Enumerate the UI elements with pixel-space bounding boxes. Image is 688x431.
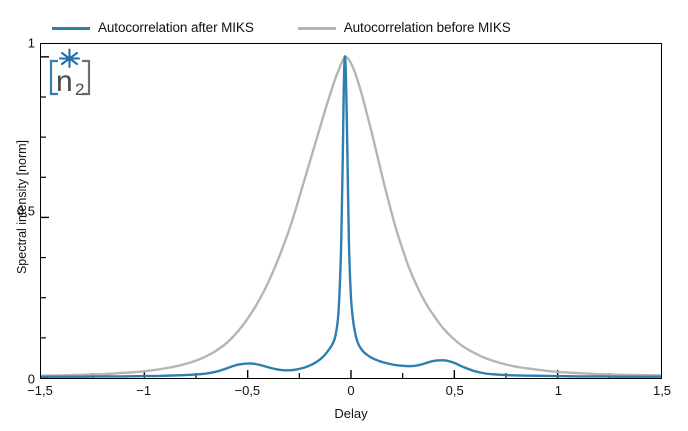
x-tick-label-2: −0,5 (234, 383, 260, 398)
series-line-before-miks (41, 57, 661, 376)
logo-letter-n: n (56, 65, 73, 98)
x-axis-title: Delay (40, 406, 662, 421)
x-tick-label-6: 1,5 (653, 383, 671, 398)
series-line-after-miks (41, 56, 661, 376)
x-tick-label-3: 0 (347, 383, 354, 398)
legend-item-before-miks[interactable]: Autocorrelation before MIKS (298, 21, 511, 35)
legend-label-after-miks: Autocorrelation after MIKS (98, 21, 254, 35)
x-axis-tick-labels: −1,5−1−0,500,511,5 (40, 383, 662, 403)
legend-swatch-before-miks (298, 27, 336, 30)
x-tick-label-4: 0,5 (446, 383, 464, 398)
y-axis-title: Spectral intensity [norm] (15, 117, 29, 297)
n2-logo-svg: n 2 (46, 48, 94, 98)
x-tick-label-0: −1,5 (27, 383, 53, 398)
n2-logo: n 2 (46, 48, 94, 98)
x-tick-label-5: 1 (555, 383, 562, 398)
legend-label-before-miks: Autocorrelation before MIKS (344, 21, 511, 35)
legend-item-after-miks[interactable]: Autocorrelation after MIKS (52, 21, 254, 35)
plot-canvas (41, 44, 661, 378)
logo-subscript-2: 2 (75, 80, 84, 98)
legend-swatch-after-miks (52, 27, 90, 30)
y-tick-label-1: 1 (28, 36, 35, 51)
plot-area (40, 43, 662, 379)
x-tick-label-1: −1 (136, 383, 151, 398)
chart-legend: Autocorrelation after MIKS Autocorrelati… (52, 17, 511, 39)
chart-figure: Autocorrelation after MIKS Autocorrelati… (0, 0, 688, 431)
axis-ticks-inner (41, 57, 609, 378)
